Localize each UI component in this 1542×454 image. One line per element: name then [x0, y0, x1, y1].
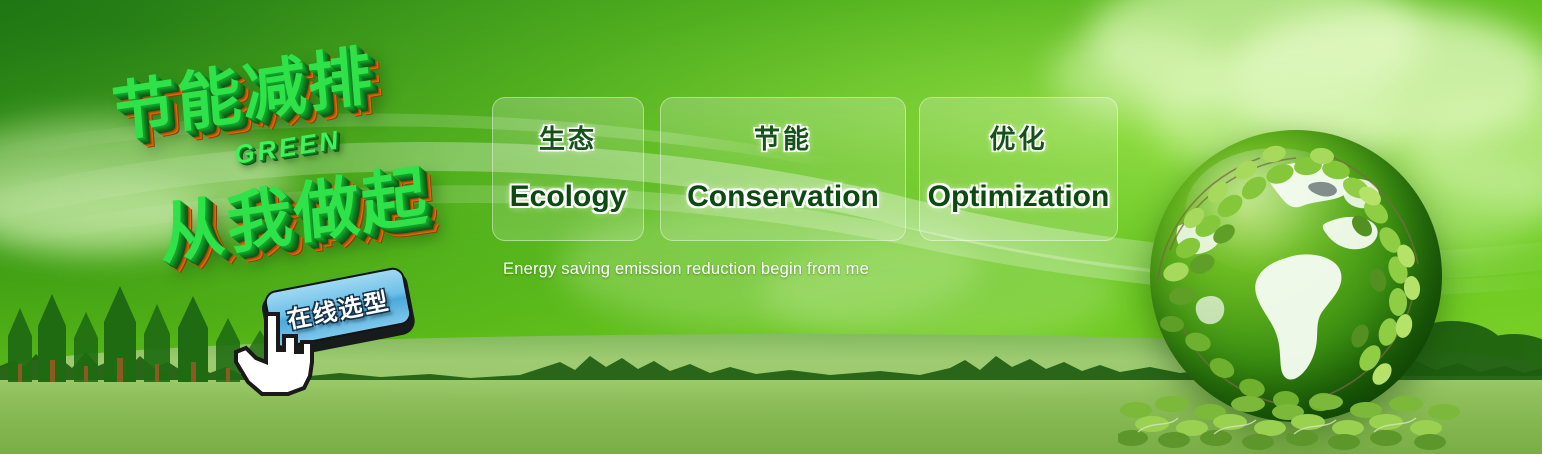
- hero-title-artwork: 节能减排 GREEN 从我做起: [93, 31, 485, 279]
- feature-card-optimization[interactable]: 优化 Optimization: [919, 97, 1118, 241]
- feature-card-title-en: Conservation: [687, 182, 879, 212]
- feature-card-conservation[interactable]: 节能 Conservation: [660, 97, 906, 241]
- pointing-hand-cursor-icon: [232, 310, 316, 396]
- leafy-earth-globe: [1128, 122, 1458, 442]
- banner-tagline: Energy saving emission reduction begin f…: [503, 260, 869, 279]
- green-energy-banner: 节能减排 GREEN 从我做起 在线选型 生态 Ecology 节能 Conse…: [0, 0, 1542, 454]
- leaf-litter-ground: [1118, 376, 1468, 450]
- feature-card-title-cn: 生态: [539, 126, 597, 152]
- feature-card-title-en: Ecology: [510, 182, 627, 212]
- feature-card-title-cn: 节能: [754, 126, 812, 152]
- feature-card-ecology[interactable]: 生态 Ecology: [492, 97, 644, 241]
- feature-card-title-cn: 优化: [989, 126, 1047, 152]
- feature-card-title-en: Optimization: [928, 182, 1110, 212]
- hero-title-line2: 从我做起: [155, 142, 432, 278]
